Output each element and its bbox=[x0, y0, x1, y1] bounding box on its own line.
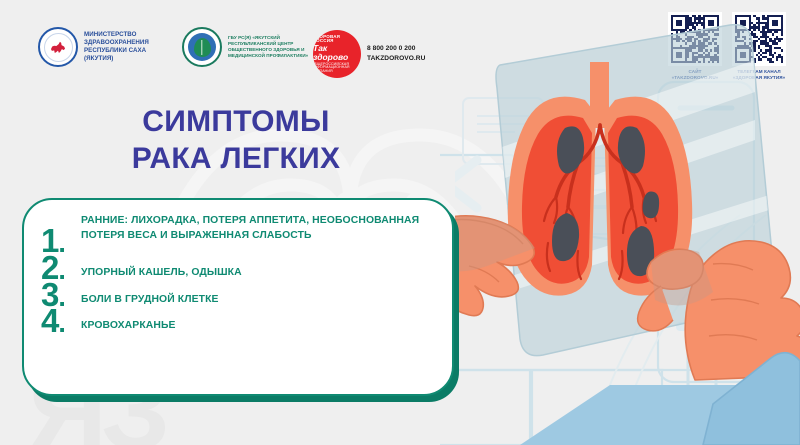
takzdorovo-logo-icon: ЗДОРОВАЯ РОССИЯ Так здорово ОБЩЕРОССИЙСК… bbox=[313, 30, 361, 78]
takzdorovo-badge-sub: ОБЩЕРОССИЙСКАЯ ИНФОРМАЦИОННАЯ КАМПАНИЯ bbox=[313, 63, 361, 73]
page-title: СИМПТОМЫ РАКА ЛЕГКИХ bbox=[46, 104, 426, 177]
list-item-label: РАННИЕ: ЛИХОРАДКА, ПОТЕРЯ АППЕТИТА, НЕОБ… bbox=[81, 214, 438, 244]
logo-health-center: ГБУ РС(Я) «ЯКУТСКИЙ РЕСПУБЛИКАНСКИЙ ЦЕНТ… bbox=[182, 27, 328, 67]
takzdorovo-site: TAKZDOROVO.RU bbox=[367, 54, 425, 64]
logo-takzdorovo: ЗДОРОВАЯ РОССИЯ Так здорово ОБЩЕРОССИЙСК… bbox=[313, 30, 425, 78]
hands-holding-lung-xray-illustration bbox=[455, 0, 800, 445]
list-item-label: КРОВОХАРКАНЬЕ bbox=[81, 306, 176, 334]
list-item: 3. БОЛИ В ГРУДНОЙ КЛЕТКЕ bbox=[41, 280, 438, 310]
page-title-line2: РАКА ЛЕГКИХ bbox=[46, 141, 426, 178]
horseman-glyph bbox=[50, 41, 66, 54]
list-item-number: 4. bbox=[41, 306, 81, 336]
list-item: 4. КРОВОХАРКАНЬЕ bbox=[41, 306, 438, 336]
list-item-number-value: 4 bbox=[41, 302, 58, 339]
list-item: 1. РАННИЕ: ЛИХОРАДКА, ПОТЕРЯ АППЕТИТА, Н… bbox=[41, 214, 438, 256]
list-item-label: БОЛИ В ГРУДНОЙ КЛЕТКЕ bbox=[81, 280, 219, 308]
yakutia-coat-of-arms-icon bbox=[38, 27, 78, 67]
infographic-poster: ЯЗ bbox=[0, 0, 800, 445]
logo-minzdrav-label: МИНИСТЕРСТВО ЗДРАВООХРАНЕНИЯ РЕСПУБЛИКИ … bbox=[84, 31, 170, 64]
leaf-glyph bbox=[194, 38, 211, 57]
takzdorovo-contacts: 8 800 200 0 200 TAKZDOROVO.RU bbox=[367, 44, 425, 63]
list-item: 2. УПОРНЫЙ КАШЕЛЬ, ОДЫШКА bbox=[41, 253, 438, 283]
takzdorovo-phone: 8 800 200 0 200 bbox=[367, 44, 425, 54]
emblem-ring bbox=[188, 33, 216, 61]
symptoms-list: 1. РАННИЕ: ЛИХОРАДКА, ПОТЕРЯ АППЕТИТА, Н… bbox=[41, 214, 438, 337]
takzdorovo-badge-main: Так здорово bbox=[313, 44, 361, 61]
emblem-ring bbox=[44, 33, 73, 62]
list-item-label: УПОРНЫЙ КАШЕЛЬ, ОДЫШКА bbox=[81, 253, 242, 281]
logo-minzdrav: МИНИСТЕРСТВО ЗДРАВООХРАНЕНИЯ РЕСПУБЛИКИ … bbox=[38, 27, 170, 67]
list-item-number-dot: . bbox=[58, 308, 65, 338]
symptoms-card: 1. РАННИЕ: ЛИХОРАДКА, ПОТЕРЯ АППЕТИТА, Н… bbox=[22, 198, 454, 396]
page-title-line1: СИМПТОМЫ bbox=[46, 104, 426, 141]
health-center-emblem-icon bbox=[182, 27, 222, 67]
